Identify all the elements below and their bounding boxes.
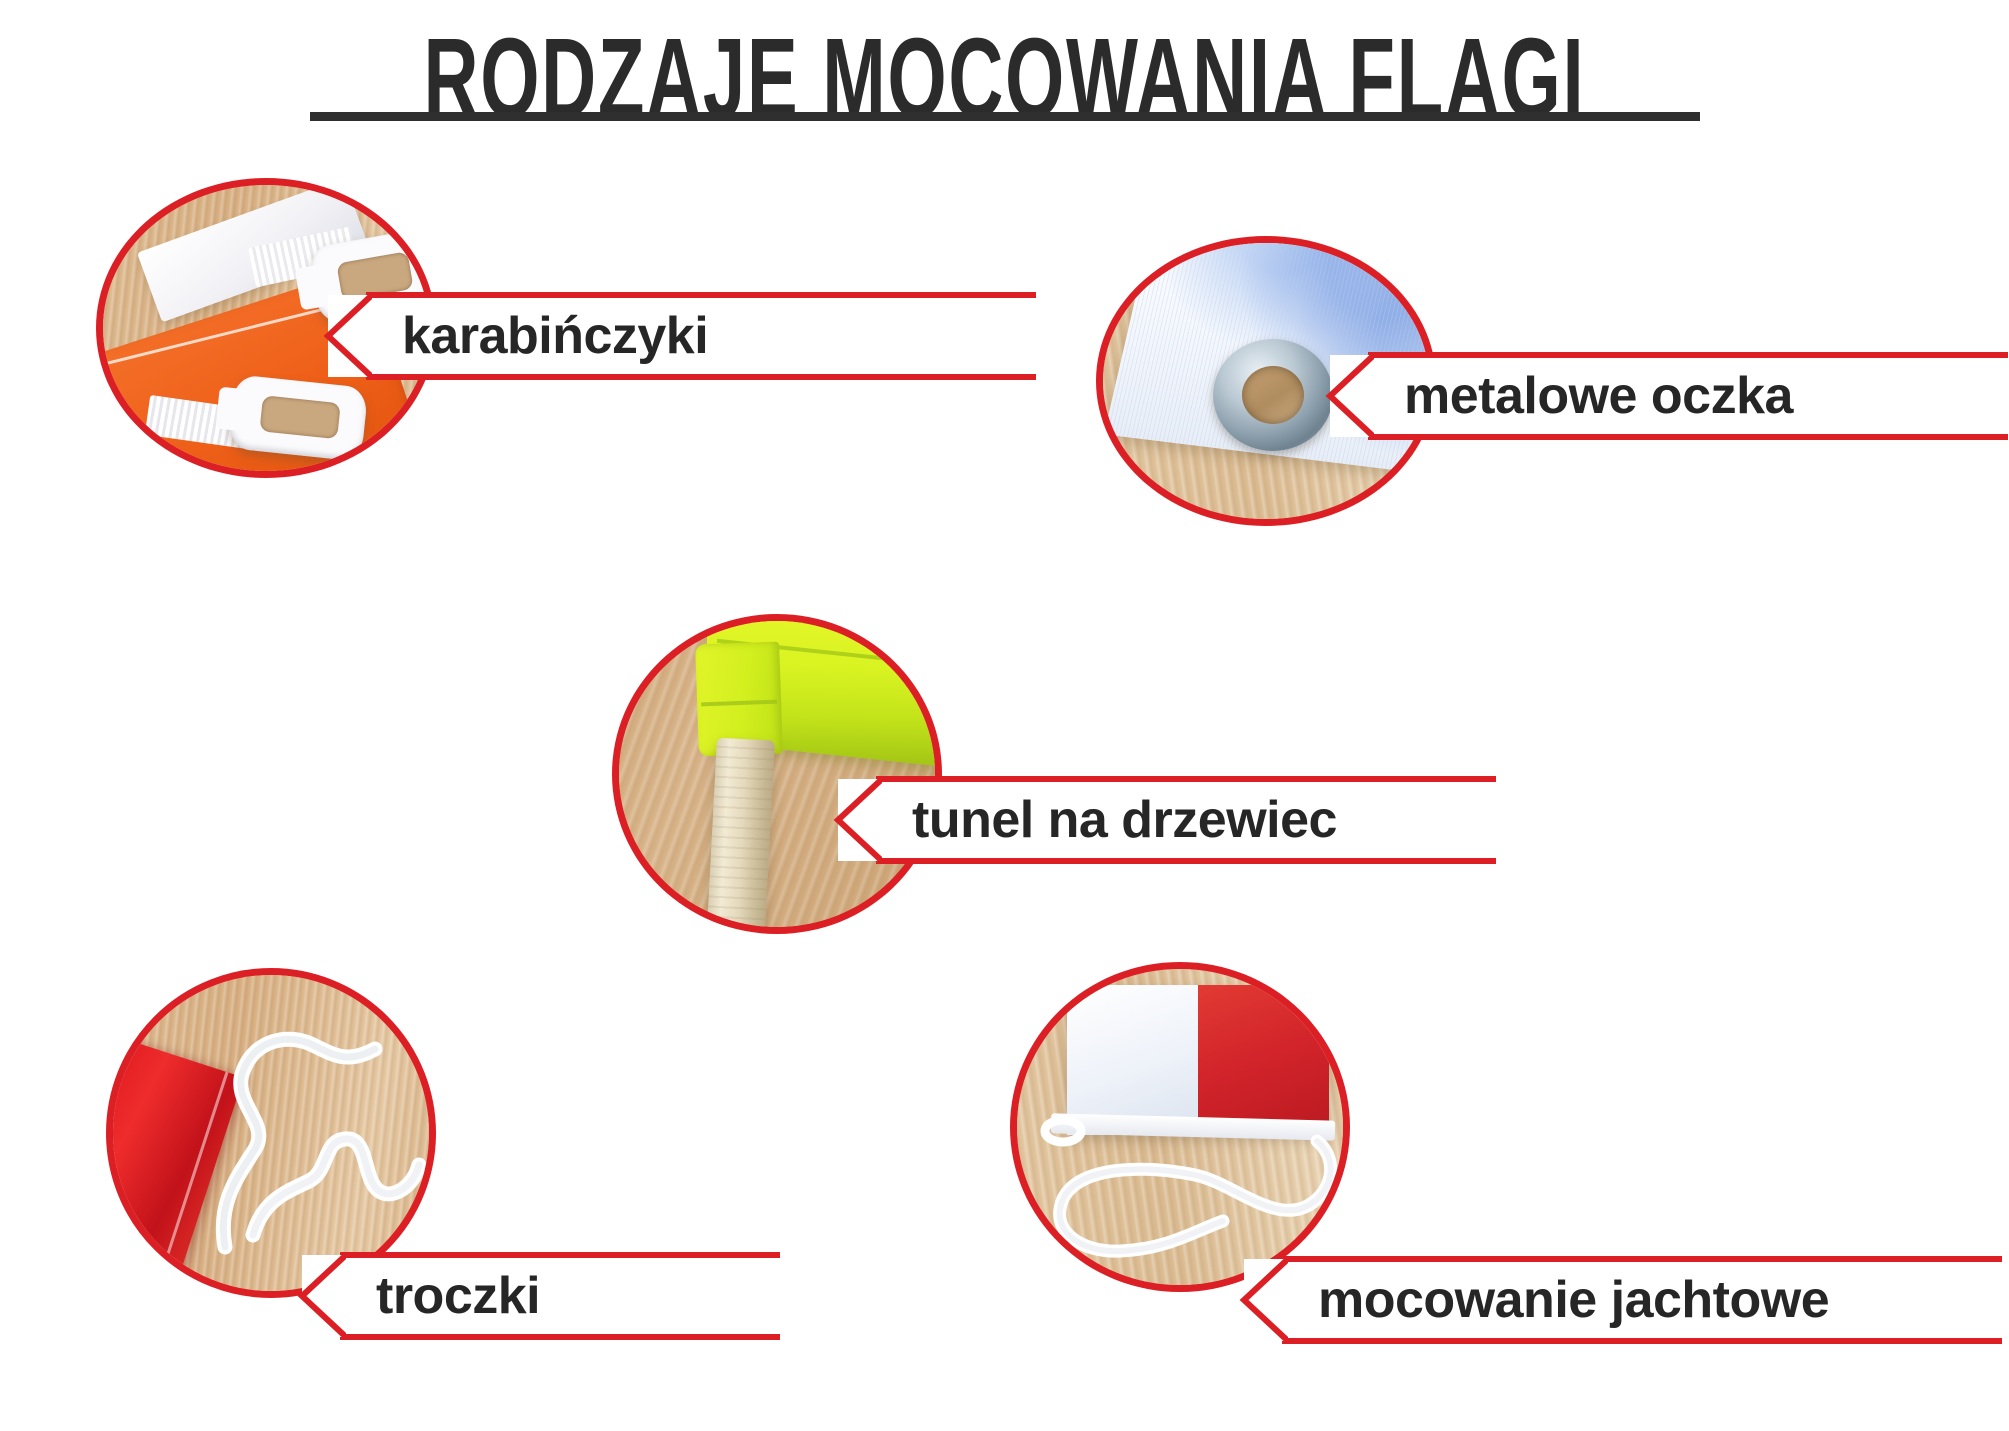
photo-tunel-na-drzewiec	[619, 621, 935, 927]
callout-body: tunel na drzewiec	[876, 776, 1496, 864]
callout-label-tunel-na-drzewiec: tunel na drzewiec	[912, 790, 1337, 850]
callout-arrow-icon	[322, 292, 372, 380]
photo-circle-tunel-na-drzewiec	[612, 614, 942, 934]
callout-body: mocowanie jachtowe	[1282, 1256, 2002, 1344]
metal-grommet-icon	[1213, 339, 1333, 451]
callout-metalowe-oczka: metalowe oczka	[1368, 352, 2008, 440]
wooden-pole	[705, 738, 775, 927]
callout-top-rule	[1282, 1256, 2002, 1262]
grommet-hole	[1242, 366, 1304, 424]
callout-bottom-rule	[1368, 434, 2008, 440]
callout-body: karabińczyki	[366, 292, 1036, 380]
callout-label-metalowe-oczka: metalowe oczka	[1404, 366, 1793, 426]
callout-body: metalowe oczka	[1368, 352, 2008, 440]
photo-circle-mocowanie-jachtowe	[1010, 962, 1350, 1292]
callout-body: troczki	[340, 1252, 780, 1340]
photo-mocowanie-jachtowe	[1017, 969, 1343, 1285]
callout-arrow-icon	[296, 1252, 346, 1340]
callout-karabinczyki: karabińczyki	[366, 292, 1036, 380]
callout-bottom-rule	[876, 858, 1496, 864]
callout-bottom-rule	[366, 374, 1036, 380]
callout-label-mocowanie-jachtowe: mocowanie jachtowe	[1318, 1270, 1829, 1330]
title-underline	[310, 112, 1700, 121]
callout-label-karabinczyki: karabińczyki	[402, 306, 708, 366]
carabiner-clip-bottom	[227, 374, 368, 462]
callout-top-rule	[876, 776, 1496, 782]
callout-bottom-rule	[1282, 1338, 2002, 1344]
rope-cord-icon	[1017, 969, 1343, 1285]
callout-top-rule	[1368, 352, 2008, 358]
photo-troczki	[113, 975, 429, 1291]
callout-bottom-rule	[340, 1334, 780, 1340]
page-title: RODZAJE MOCOWANIA FLAGI	[0, 22, 2009, 115]
callout-top-rule	[340, 1252, 780, 1258]
cord-ties-icon	[113, 975, 429, 1291]
callout-troczki: troczki	[340, 1252, 780, 1340]
callout-arrow-icon	[1238, 1256, 1288, 1344]
callout-arrow-icon	[1324, 352, 1374, 440]
callout-label-troczki: troczki	[376, 1266, 540, 1326]
callout-mocowanie-jachtowe: mocowanie jachtowe	[1282, 1256, 2002, 1344]
photo-circle-troczki	[106, 968, 436, 1298]
callout-top-rule	[366, 292, 1036, 298]
clip-hole	[259, 395, 340, 439]
callout-arrow-icon	[832, 776, 882, 864]
infographic-root: RODZAJE MOCOWANIA FLAGI	[0, 0, 2009, 1431]
callout-tunel-na-drzewiec: tunel na drzewiec	[876, 776, 1496, 864]
